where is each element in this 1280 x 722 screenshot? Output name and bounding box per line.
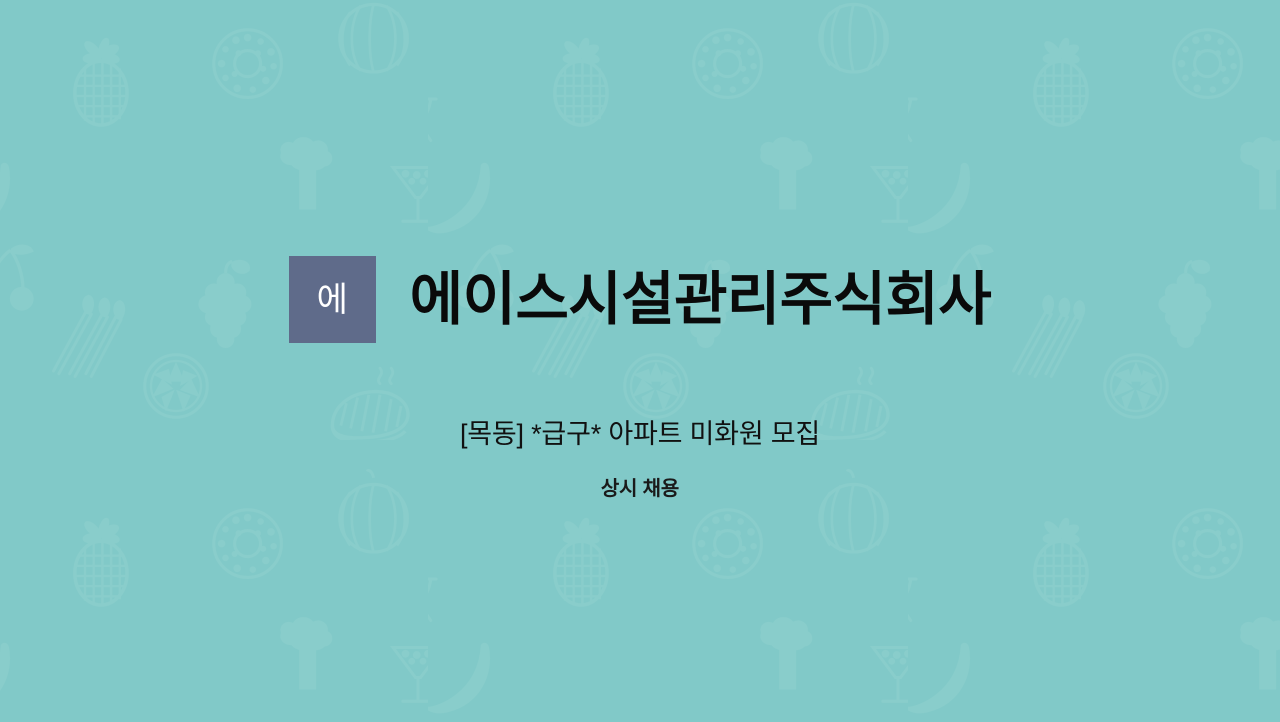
job-posting-card: 에 에이스시설관리주식회사 [목동] *급구* 아파트 미화원 모집 상시 채용 [0, 0, 1280, 722]
job-title: [목동] *급구* 아파트 미화원 모집 [460, 421, 820, 448]
company-logo-initial: 에 [317, 283, 348, 317]
company-header: 에 에이스시설관리주식회사 [289, 256, 991, 343]
card-content: 에 에이스시설관리주식회사 [목동] *급구* 아파트 미화원 모집 상시 채용 [0, 0, 1280, 722]
company-logo-badge: 에 [289, 256, 376, 343]
company-name: 에이스시설관리주식회사 [410, 271, 991, 329]
job-status-badge: 상시 채용 [601, 479, 679, 499]
